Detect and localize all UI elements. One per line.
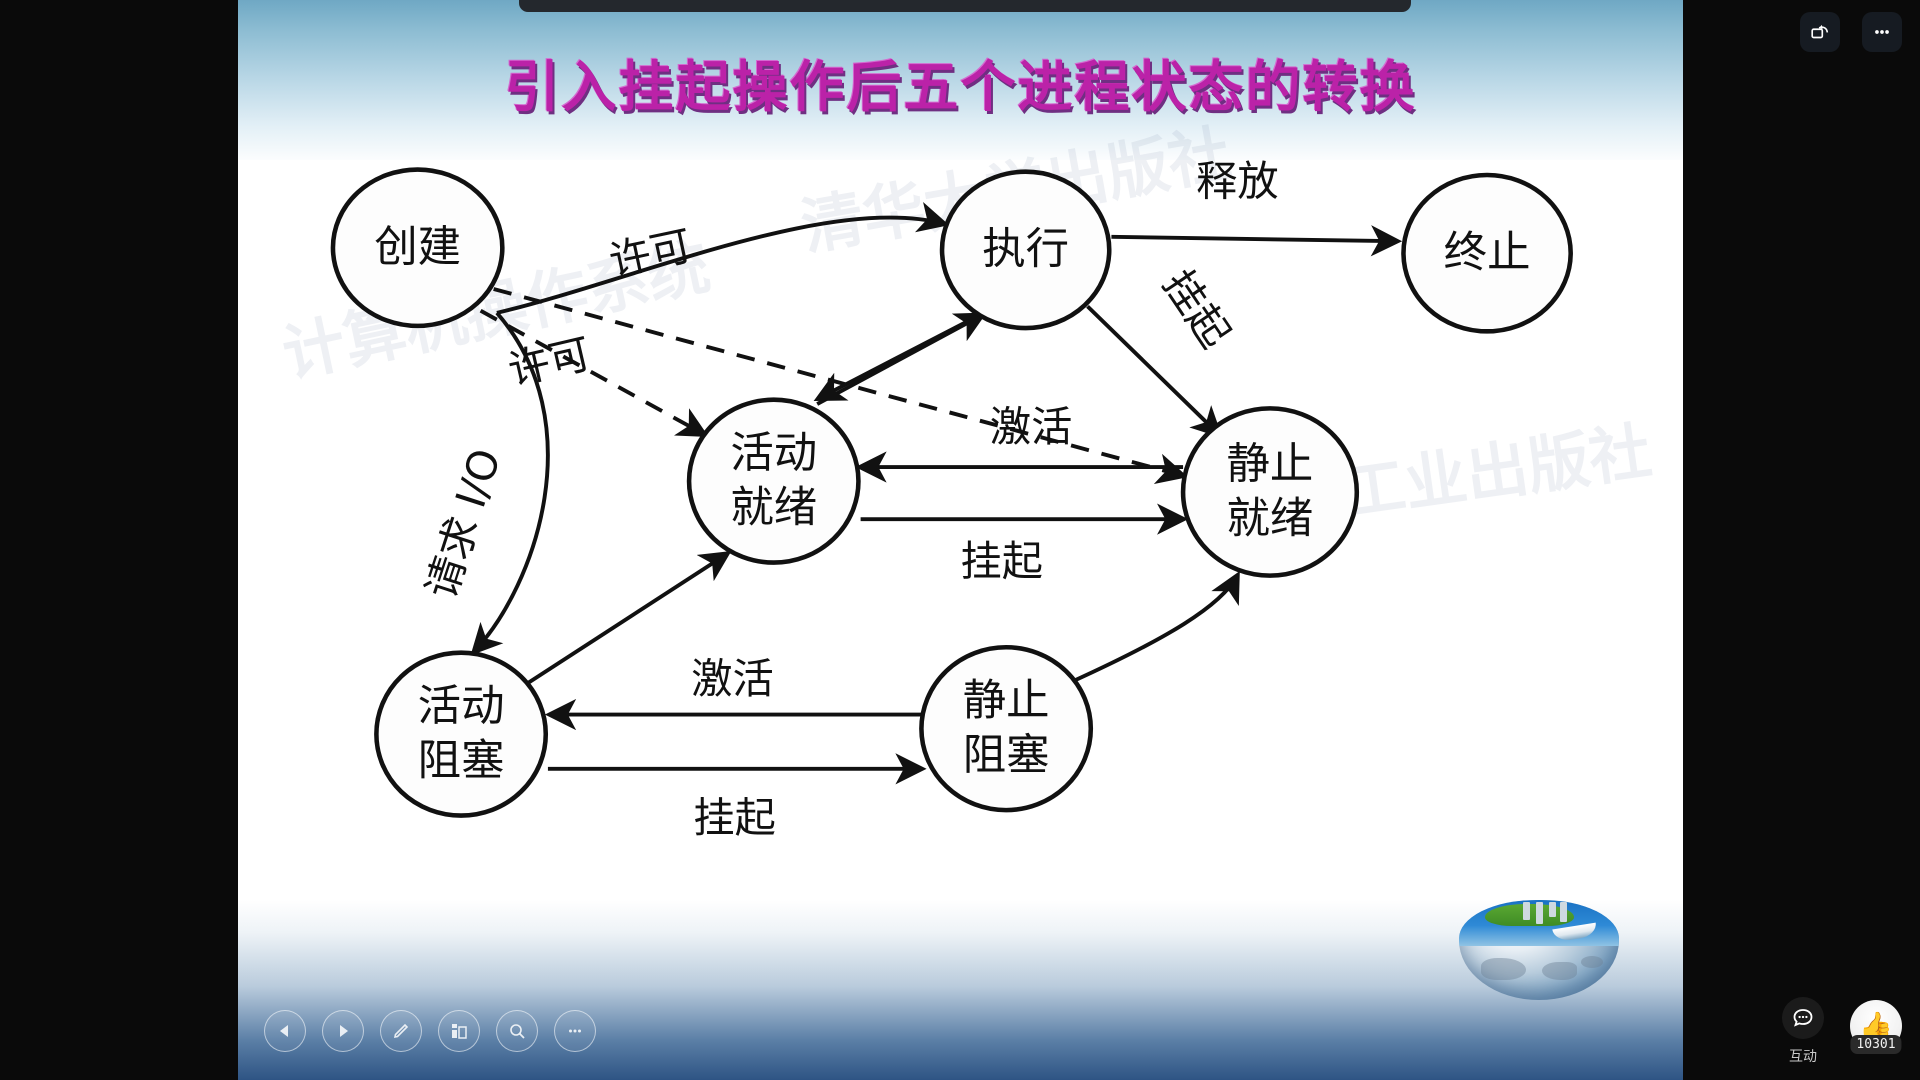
presentation-slide[interactable]: 计算机操作系统 清华大学出版社 电子工业出版社 引入挂起操作后五个进程状态的转换 [238, 0, 1683, 1080]
node-label: 终止 [1444, 228, 1531, 278]
node-label: 创建 [374, 222, 461, 272]
bottom-right-controls: 互动 👍 10301 [1782, 997, 1902, 1066]
edge-label-activate-block: 激活 [691, 655, 774, 703]
slides-overview-button[interactable] [438, 1010, 480, 1052]
top-right-controls [1800, 12, 1902, 52]
interact-button[interactable]: 互动 [1782, 997, 1824, 1066]
like-count-badge: 10301 [1850, 1035, 1901, 1054]
edge-label-permit-1: 许可 [605, 221, 696, 285]
state-transition-diagram: 创建 执行 终止 活动 就绪 静止 就绪 [238, 150, 1683, 910]
rotate-screen-icon [1809, 21, 1831, 43]
edge-curve-to-execute [497, 217, 944, 312]
interact-label: 互动 [1789, 1046, 1817, 1066]
node-label-line2: 就绪 [1227, 494, 1314, 544]
slide-title: 引入挂起操作后五个进程状态的转换 [238, 42, 1683, 122]
chat-bubble-icon [1791, 1006, 1815, 1030]
node-label-line1: 活动 [730, 429, 817, 479]
previous-slide-button[interactable] [264, 1010, 306, 1052]
top-status-notch [519, 0, 1411, 12]
next-slide-button[interactable] [322, 1010, 364, 1052]
like-button[interactable]: 👍 10301 [1850, 1000, 1902, 1052]
node-label-line2: 阻塞 [418, 736, 505, 786]
layout-grid-icon [449, 1021, 469, 1041]
edge-label-request-io: 请求 I/O [417, 443, 510, 604]
node-static-ready[interactable]: 静止 就绪 [1183, 408, 1357, 575]
globe-logo-icon [1455, 882, 1623, 1002]
edge-label-suspend-block: 挂起 [693, 794, 776, 842]
edge-execute-to-terminate [1111, 237, 1397, 241]
more-options-button[interactable] [1862, 12, 1902, 52]
node-terminate[interactable]: 终止 [1403, 175, 1570, 331]
presentation-toolbar[interactable] [264, 1010, 596, 1052]
edge-label-activate-ready: 激活 [990, 403, 1072, 451]
zoom-button[interactable] [496, 1010, 538, 1052]
node-label-line2: 阻塞 [963, 730, 1050, 780]
chat-bubble-icon-wrap [1782, 997, 1824, 1039]
edge-execute-to-active-ready [818, 320, 969, 398]
more-tools-button[interactable] [554, 1010, 596, 1052]
node-active-block[interactable]: 活动 阻塞 [376, 653, 545, 816]
rotate-screen-button[interactable] [1800, 12, 1840, 52]
triangle-right-icon [335, 1023, 351, 1039]
node-label-line1: 静止 [963, 676, 1050, 726]
magnifier-icon [507, 1021, 527, 1041]
node-label-line2: 就绪 [730, 483, 817, 533]
pen-tool-button[interactable] [380, 1010, 422, 1052]
node-create[interactable]: 创建 [333, 170, 502, 326]
app-root: 计算机操作系统 清华大学出版社 电子工业出版社 引入挂起操作后五个进程状态的转换 [0, 0, 1920, 1080]
triangle-left-icon [277, 1023, 293, 1039]
more-options-icon [1871, 21, 1893, 43]
edge-label-suspend-exec: 挂起 [1153, 261, 1239, 356]
edge-static-block-to-static-ready [1071, 576, 1237, 682]
node-label-line1: 活动 [418, 682, 505, 732]
edge-label-release: 释放 [1196, 158, 1279, 206]
pen-icon [391, 1021, 411, 1041]
node-label-line1: 静止 [1227, 440, 1314, 490]
node-active-ready[interactable]: 活动 就绪 [689, 400, 858, 563]
edge-label-suspend-ready: 挂起 [961, 538, 1043, 586]
ellipsis-icon [565, 1021, 585, 1041]
node-label: 执行 [982, 225, 1069, 275]
node-execute[interactable]: 执行 [942, 172, 1109, 328]
node-static-block[interactable]: 静止 阻塞 [921, 647, 1090, 810]
